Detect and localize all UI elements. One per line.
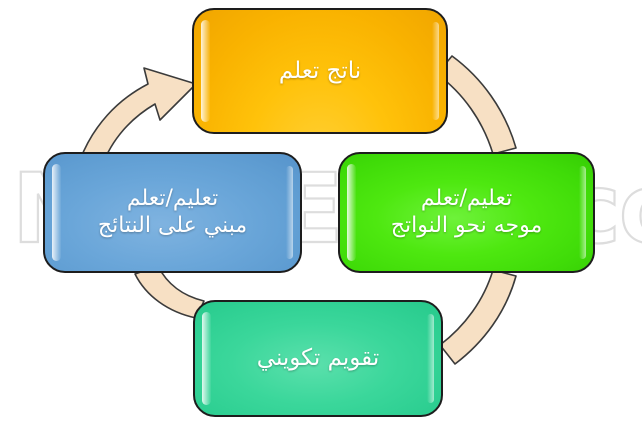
node-results-based-teaching-learning[interactable]: تعليم/تعلم مبني على النتائج xyxy=(43,152,302,273)
arrow-bottom-to-left xyxy=(135,266,204,318)
node-outcome-oriented-line-2: موجه نحو النواتج xyxy=(391,213,542,240)
node-learning-outcome-line-1: ناتج تعلم xyxy=(279,57,361,85)
node-results-based-line-2: مبني على النتائج xyxy=(98,213,247,240)
arrow-top-to-right xyxy=(437,56,516,154)
node-outcome-oriented-line-1: تعليم/تعلم xyxy=(421,186,512,213)
node-formative-assessment[interactable]: تقويم تكويني xyxy=(193,300,443,417)
arrow-right-to-bottom xyxy=(440,270,516,364)
node-formative-assessment-line-1: تقويم تكويني xyxy=(257,344,379,372)
node-learning-outcome[interactable]: ناتج تعلم xyxy=(192,8,448,134)
node-results-based-line-1: تعليم/تعلم xyxy=(127,186,218,213)
node-outcome-oriented-teaching-learning[interactable]: تعليم/تعلم موجه نحو النواتج xyxy=(338,152,595,273)
diagram-canvas: New-Educ.com ناتج تعلم تعليم/تعلم موجه ن… xyxy=(0,0,642,436)
